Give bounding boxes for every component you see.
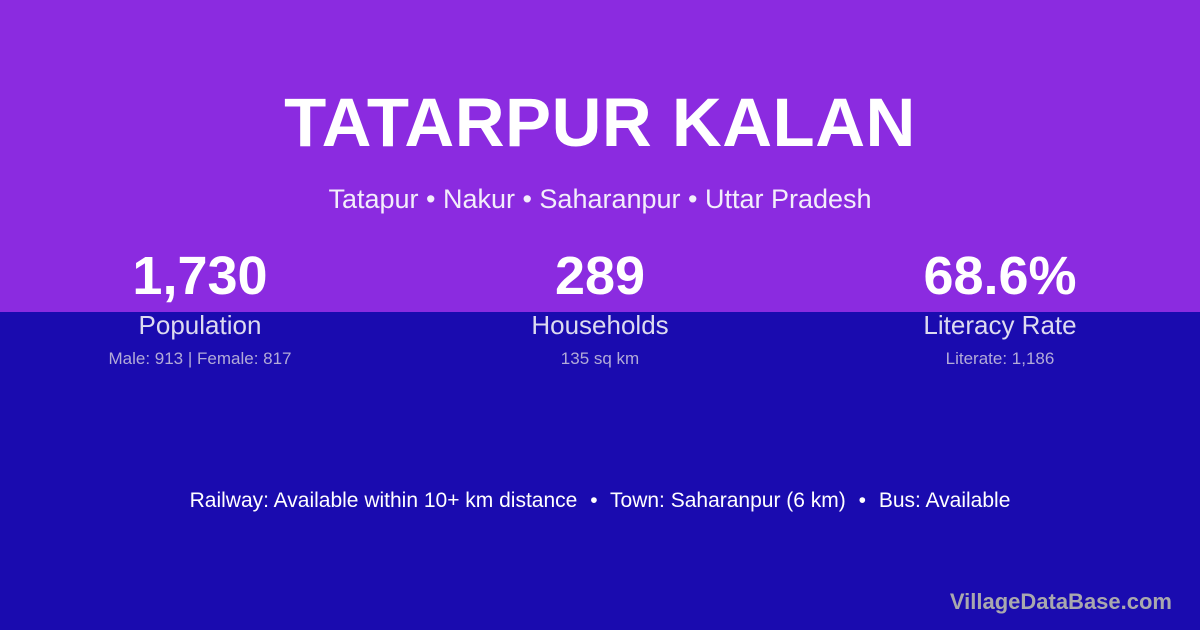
stat-households-value: 289 <box>400 244 800 308</box>
info-separator-dot: • <box>583 487 604 515</box>
card-content: TATARPUR KALAN Tatapur • Nakur • Saharan… <box>0 0 1200 630</box>
stat-population: 1,730 Population Male: 913 | Female: 817 <box>0 244 400 370</box>
stat-population-label: Population <box>0 309 400 341</box>
stat-households-detail: 135 sq km <box>400 348 800 370</box>
info-bus: Bus: Available <box>879 489 1011 512</box>
stat-population-detail: Male: 913 | Female: 817 <box>0 348 400 370</box>
stats-row: 1,730 Population Male: 913 | Female: 817… <box>0 244 1200 370</box>
village-info-card: TATARPUR KALAN Tatapur • Nakur • Saharan… <box>0 0 1200 630</box>
info-town: Town: Saharanpur (6 km) <box>610 489 846 512</box>
stat-households: 289 Households 135 sq km <box>400 244 800 370</box>
stat-households-label: Households <box>400 309 800 341</box>
stat-literacy-rate-value: 68.6% <box>800 244 1200 308</box>
stat-literacy-rate: 68.6% Literacy Rate Literate: 1,186 <box>800 244 1200 370</box>
stat-literacy-rate-detail: Literate: 1,186 <box>800 348 1200 370</box>
breadcrumb: Tatapur • Nakur • Saharanpur • Uttar Pra… <box>0 183 1200 215</box>
page-title: TATARPUR KALAN <box>0 83 1200 163</box>
stat-population-value: 1,730 <box>0 244 400 308</box>
amenities-info-line: Railway: Available within 10+ km distanc… <box>0 487 1200 515</box>
stat-literacy-rate-label: Literacy Rate <box>800 309 1200 341</box>
info-separator-dot: • <box>852 487 873 515</box>
site-watermark: VillageDataBase.com <box>950 588 1172 616</box>
info-railway: Railway: Available within 10+ km distanc… <box>190 489 578 512</box>
